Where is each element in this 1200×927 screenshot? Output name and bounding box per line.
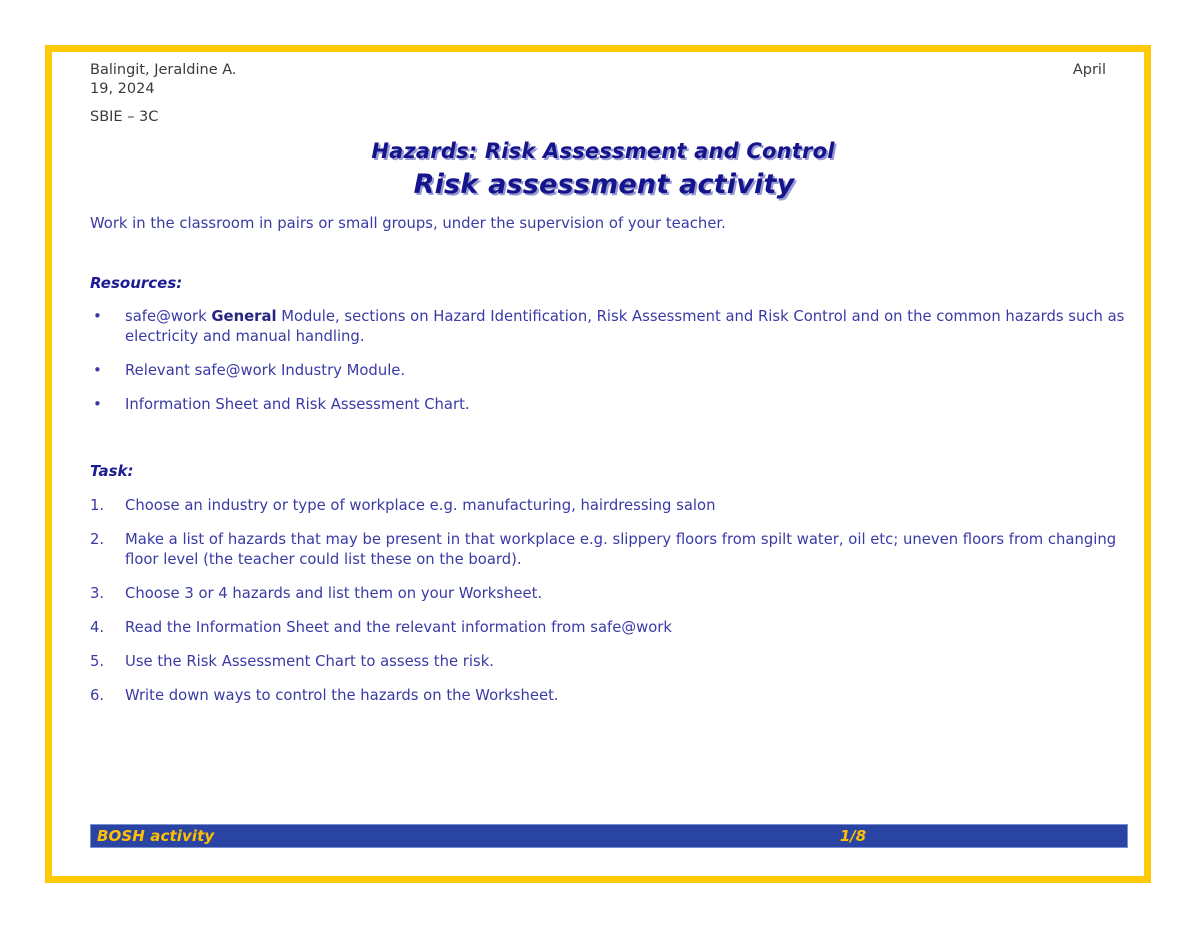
- bullet-icon: •: [93, 360, 102, 380]
- list-item: 3. Choose 3 or 4 hazards and list them o…: [90, 584, 1130, 604]
- intro-paragraph: Work in the classroom in pairs or small …: [90, 214, 1130, 234]
- document-body: Work in the classroom in pairs or small …: [90, 214, 1130, 706]
- list-item-number: 3.: [90, 584, 114, 604]
- bullet-icon: •: [93, 394, 102, 414]
- list-item-text-pre: Information Sheet and Risk Assessment Ch…: [125, 396, 470, 413]
- document-header: Balingit, Jeraldine A. 19, 2024 SBIE – 3…: [90, 61, 1106, 127]
- list-item-text: Choose an industry or type of workplace …: [125, 497, 715, 514]
- list-item-text: Use the Risk Assessment Chart to assess …: [125, 653, 494, 670]
- list-item: 5. Use the Risk Assessment Chart to asse…: [90, 652, 1130, 672]
- list-item-text-bold: General: [211, 308, 276, 325]
- header-date-right: April: [1073, 61, 1106, 80]
- list-item-number: 4.: [90, 618, 114, 638]
- task-heading: Task:: [90, 462, 1130, 482]
- list-item-text: Make a list of hazards that may be prese…: [125, 531, 1116, 568]
- list-item-number: 2.: [90, 530, 114, 550]
- footer-page-number: 1/8: [91, 827, 1200, 845]
- list-item-text: Write down ways to control the hazards o…: [125, 687, 559, 704]
- document-title-main: Hazards: Risk Assessment and Control: [52, 138, 1144, 164]
- list-item: • Relevant safe@work Industry Module.: [90, 361, 1130, 381]
- resources-heading: Resources:: [90, 274, 1130, 294]
- document-page: Balingit, Jeraldine A. 19, 2024 SBIE – 3…: [52, 52, 1144, 876]
- list-item: 2. Make a list of hazards that may be pr…: [90, 530, 1130, 570]
- header-course-section: SBIE – 3C: [90, 108, 237, 127]
- list-item: 4. Read the Information Sheet and the re…: [90, 618, 1130, 638]
- bullet-icon: •: [93, 306, 102, 326]
- list-item-text: Choose 3 or 4 hazards and list them on y…: [125, 585, 542, 602]
- title-block: Hazards: Risk Assessment and Control Ris…: [52, 138, 1144, 202]
- resources-list: • safe@work General Module, sections on …: [90, 307, 1130, 415]
- list-item: 1. Choose an industry or type of workpla…: [90, 496, 1130, 516]
- footer-label: BOSH activity: [97, 827, 214, 845]
- list-item-number: 1.: [90, 496, 114, 516]
- document-footer-bar: BOSH activity 1/8: [90, 824, 1128, 848]
- list-item: 6. Write down ways to control the hazard…: [90, 686, 1130, 706]
- header-author-name: Balingit, Jeraldine A.: [90, 62, 237, 78]
- list-item-text: Read the Information Sheet and the relev…: [125, 619, 672, 636]
- list-item: • safe@work General Module, sections on …: [90, 307, 1130, 347]
- header-author-date: 19, 2024: [90, 80, 237, 99]
- list-item: • Information Sheet and Risk Assessment …: [90, 395, 1130, 415]
- list-item-number: 6.: [90, 686, 114, 706]
- list-item-text-pre: safe@work: [125, 308, 211, 325]
- list-item-number: 5.: [90, 652, 114, 672]
- header-author-block: Balingit, Jeraldine A. 19, 2024 SBIE – 3…: [90, 61, 237, 127]
- document-title-sub: Risk assessment activity: [52, 169, 1144, 201]
- task-list: 1. Choose an industry or type of workpla…: [90, 496, 1130, 706]
- list-item-text-pre: Relevant safe@work Industry Module.: [125, 362, 405, 379]
- document-page-frame: Balingit, Jeraldine A. 19, 2024 SBIE – 3…: [45, 45, 1151, 883]
